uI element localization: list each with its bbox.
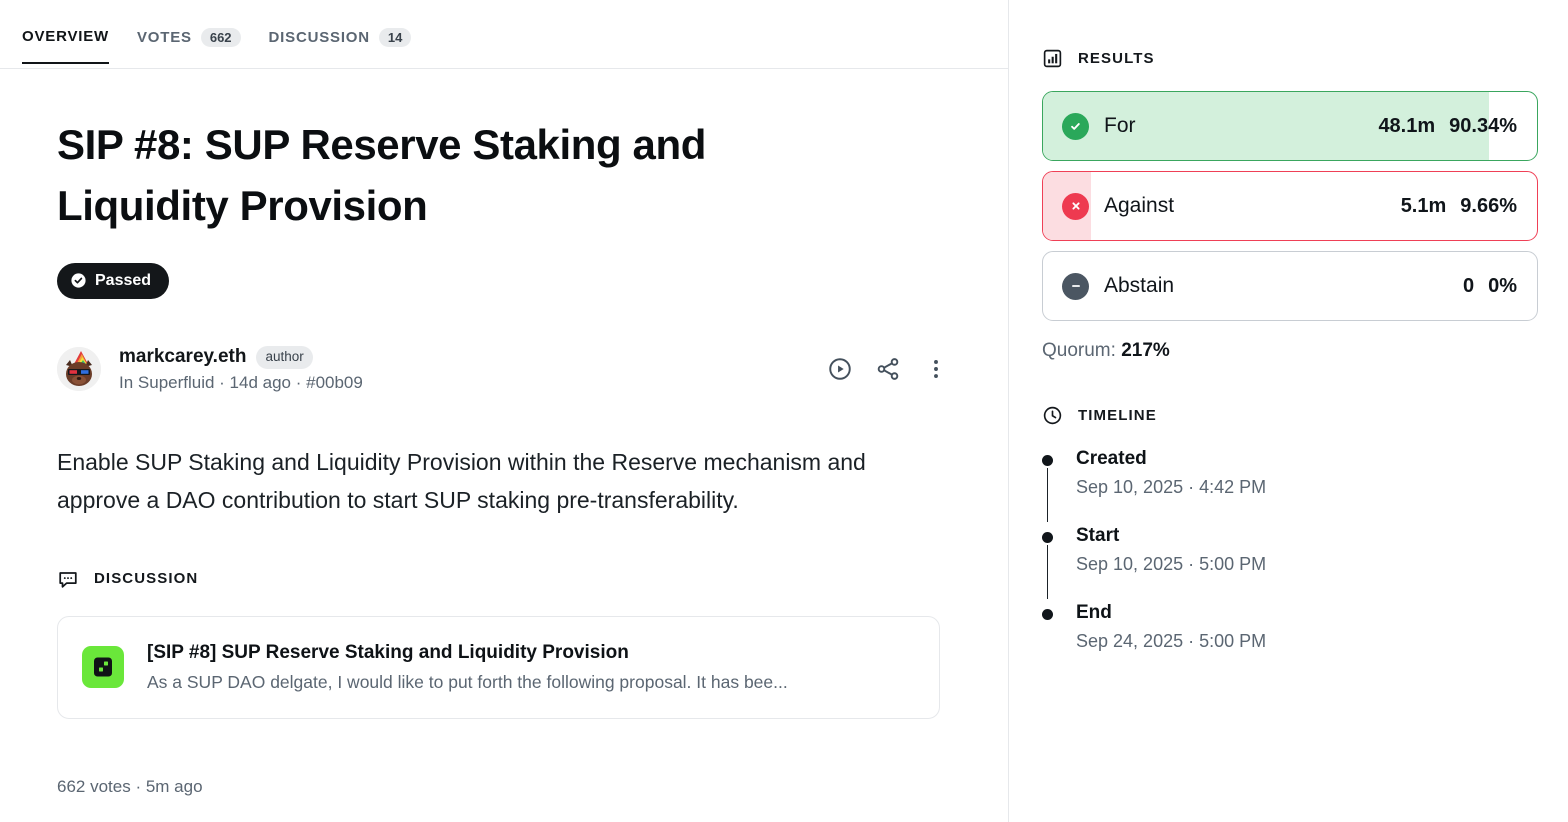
result-row-against[interactable]: Against 5.1m 9.66% (1042, 171, 1538, 241)
author-actions (824, 353, 952, 385)
timeline-panel: TIMELINE Created Sep 10, 2025 · 4:42 PM … (1042, 405, 1538, 652)
result-votes-abstain: 0 (1463, 275, 1474, 298)
proposal-description: Enable SUP Staking and Liquidity Provisi… (57, 443, 937, 520)
discussion-card-text: [SIP #8] SUP Reserve Staking and Liquidi… (147, 642, 788, 693)
tab-overview[interactable]: OVERVIEW (22, 28, 109, 64)
bar-chart-icon (1042, 48, 1063, 69)
timeline-label-created: Created (1076, 448, 1538, 470)
result-label-abstain: Abstain (1104, 274, 1174, 298)
share-icon[interactable] (872, 353, 904, 385)
quorum-value: 217% (1121, 340, 1170, 361)
timeline-date-created: Sep 10, 2025 · 4:42 PM (1076, 477, 1538, 498)
result-values-against: 5.1m 9.66% (1401, 195, 1517, 218)
play-circle-icon[interactable] (824, 353, 856, 385)
timeline-list: Created Sep 10, 2025 · 4:42 PM Start Sep… (1042, 448, 1538, 652)
check-circle-icon (70, 272, 87, 289)
x-circle-icon (1062, 193, 1089, 220)
author-meta: markcarey.eth author In Superfluid · 14d… (119, 346, 363, 393)
timeline-item-end: End Sep 24, 2025 · 5:00 PM (1076, 602, 1538, 652)
minus-circle-icon (1062, 273, 1089, 300)
author-submeta: In Superfluid · 14d ago · #00b09 (119, 373, 363, 393)
tab-discussion-label: DISCUSSION (269, 29, 370, 46)
result-values-abstain: 0 0% (1463, 275, 1517, 298)
result-votes-against: 5.1m (1401, 195, 1447, 218)
tab-discussion-count: 14 (379, 28, 411, 47)
results-panel-title: RESULTS (1078, 50, 1155, 67)
timeline-panel-title: TIMELINE (1078, 407, 1157, 424)
timeline-label-start: Start (1076, 525, 1538, 547)
discussion-card-title: [SIP #8] SUP Reserve Staking and Liquidi… (147, 642, 788, 664)
results-panel-header: RESULTS (1042, 48, 1538, 69)
author-role-badge: author (256, 346, 312, 369)
avatar[interactable] (57, 347, 101, 391)
timeline-panel-header: TIMELINE (1042, 405, 1538, 426)
forum-app-icon (82, 646, 124, 688)
quorum-row: Quorum: 217% (1042, 340, 1538, 362)
discussion-card-snippet: As a SUP DAO delgate, I would like to pu… (147, 672, 788, 693)
sidebar-column: RESULTS For 48.1m 90.34% (1009, 0, 1568, 822)
timeline-label-end: End (1076, 602, 1538, 624)
more-vertical-icon[interactable] (920, 353, 952, 385)
quorum-label: Quorum: (1042, 340, 1116, 361)
tab-discussion[interactable]: DISCUSSION 14 (269, 28, 412, 66)
result-percent-for: 90.34% (1449, 115, 1517, 138)
tab-votes[interactable]: VOTES 662 (137, 28, 241, 66)
author-row: markcarey.eth author In Superfluid · 14d… (57, 346, 952, 393)
check-circle-icon (1062, 113, 1089, 140)
tab-overview-label: OVERVIEW (22, 28, 109, 45)
comment-icon (57, 568, 79, 590)
timeline-date-end: Sep 24, 2025 · 5:00 PM (1076, 631, 1538, 652)
votes-footer: 662 votes · 5m ago (57, 777, 952, 817)
proposal-body: SIP #8: SUP Reserve Staking and Liquidit… (0, 69, 1008, 822)
author-name[interactable]: markcarey.eth (119, 346, 246, 368)
result-label-against: Against (1104, 194, 1174, 218)
timeline-dot-icon (1042, 609, 1053, 620)
page-title: SIP #8: SUP Reserve Staking and Liquidit… (57, 115, 787, 237)
main-content-column: OVERVIEW VOTES 662 DISCUSSION 14 SIP #8:… (0, 0, 1009, 822)
tab-votes-label: VOTES (137, 29, 192, 46)
timeline-dot-icon (1042, 455, 1053, 466)
result-percent-abstain: 0% (1488, 275, 1517, 298)
result-votes-for: 48.1m (1378, 115, 1435, 138)
result-row-for[interactable]: For 48.1m 90.34% (1042, 91, 1538, 161)
discussion-section-header: DISCUSSION (57, 568, 952, 590)
result-percent-against: 9.66% (1460, 195, 1517, 218)
status-badge: Passed (57, 263, 169, 299)
discussion-section-title: DISCUSSION (94, 570, 198, 587)
tab-bar: OVERVIEW VOTES 662 DISCUSSION 14 (0, 0, 1008, 69)
timeline-dot-icon (1042, 532, 1053, 543)
discussion-card[interactable]: [SIP #8] SUP Reserve Staking and Liquidi… (57, 616, 940, 719)
result-values-for: 48.1m 90.34% (1378, 115, 1517, 138)
timeline-date-start: Sep 10, 2025 · 5:00 PM (1076, 554, 1538, 575)
proposal-page: OVERVIEW VOTES 662 DISCUSSION 14 SIP #8:… (0, 0, 1568, 822)
tab-votes-count: 662 (201, 28, 241, 47)
author-name-row: markcarey.eth author (119, 346, 363, 369)
results-list: For 48.1m 90.34% Against (1042, 91, 1538, 321)
status-badge-label: Passed (95, 272, 151, 290)
timeline-item-start: Start Sep 10, 2025 · 5:00 PM (1076, 525, 1538, 602)
result-label-for: For (1104, 114, 1136, 138)
result-row-abstain[interactable]: Abstain 0 0% (1042, 251, 1538, 321)
timeline-item-created: Created Sep 10, 2025 · 4:42 PM (1076, 448, 1538, 525)
clock-icon (1042, 405, 1063, 426)
